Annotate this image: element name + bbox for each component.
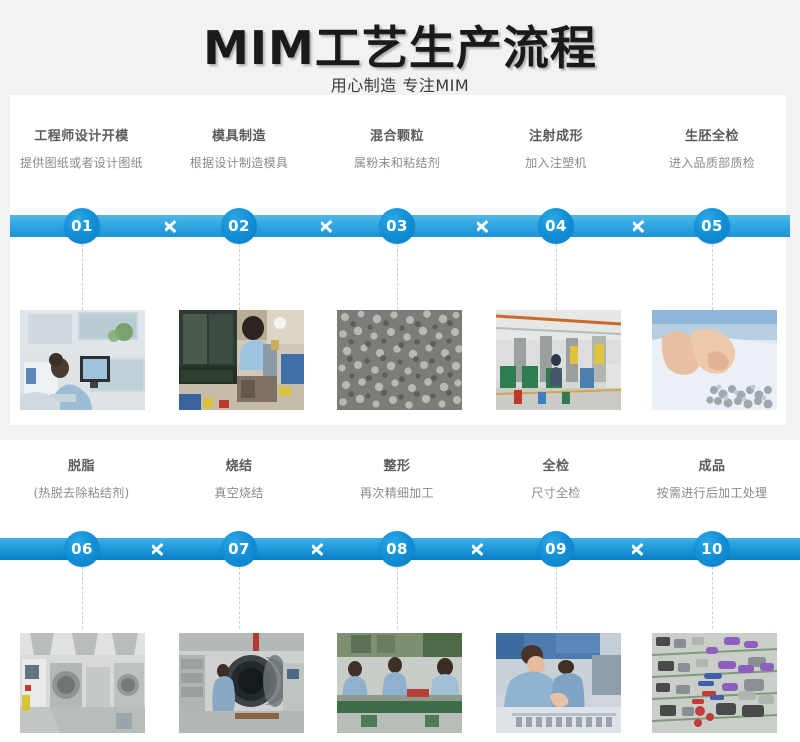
step-title: 烧结 — [159, 455, 319, 474]
connector-line — [239, 567, 240, 629]
step-desc: 加入注塑机 — [476, 154, 636, 171]
step-desc: 进入品质部质检 — [632, 154, 792, 171]
connector-line — [712, 244, 713, 310]
step-desc: 真空烧结 — [159, 484, 319, 501]
hands-inspecting-green-parts-image — [652, 310, 777, 410]
step-title: 模具制造 — [159, 125, 319, 144]
step-label-07: 烧结 真空烧结 — [159, 455, 319, 501]
injection-molding-line-image — [496, 310, 621, 410]
step-node-04[interactable]: 04 — [538, 208, 574, 244]
step-node-06[interactable]: 06 — [64, 531, 100, 567]
step-photo-02 — [179, 310, 304, 410]
connector-line — [556, 567, 557, 629]
chevron-right-icon — [633, 214, 649, 238]
step-label-06: 脱脂 (热脱去除粘结剂) — [0, 455, 163, 501]
step-label-08: 整形 再次精细加工 — [317, 455, 477, 501]
step-node-07[interactable]: 07 — [221, 531, 257, 567]
step-desc: (热脱去除粘结剂) — [0, 484, 163, 501]
finished-mim-products-tray-image — [652, 633, 777, 733]
step-title: 工程师设计开模 — [0, 125, 163, 144]
step-title: 脱脂 — [0, 455, 163, 474]
connector-line — [556, 244, 557, 310]
page-title: MIM工艺生产流程 — [0, 12, 800, 78]
step-label-10: 成品 按需进行后加工处理 — [632, 455, 792, 501]
step-photo-08 — [337, 633, 462, 733]
chevron-right-icon — [321, 214, 337, 238]
sizing-workbench-operators-image — [337, 633, 462, 733]
step-desc: 属粉末和粘结剂 — [317, 154, 477, 171]
step-photo-04 — [496, 310, 621, 410]
step-desc: 提供图纸或者设计图纸 — [0, 154, 163, 171]
debinding-furnace-room-image — [20, 633, 145, 733]
header: MIM工艺生产流程 用心制造 专注MIM — [0, 0, 800, 95]
step-photo-10 — [652, 633, 777, 733]
step-title: 注射成形 — [476, 125, 636, 144]
step-title: 成品 — [632, 455, 792, 474]
chevron-right-icon — [152, 537, 168, 561]
step-photo-06 — [20, 633, 145, 733]
dimensional-inspection-worker-image — [496, 633, 621, 733]
step-title: 生胚全检 — [632, 125, 792, 144]
chevron-right-icon — [165, 214, 181, 238]
chevron-right-icon — [477, 214, 493, 238]
step-label-09: 全检 尺寸全检 — [476, 455, 636, 501]
step-node-08[interactable]: 08 — [379, 531, 415, 567]
step-node-05[interactable]: 05 — [694, 208, 730, 244]
step-label-02: 模具制造 根据设计制造模具 — [159, 125, 319, 171]
step-label-05: 生胚全检 进入品质部质检 — [632, 125, 792, 171]
page-subtitle: 用心制造 专注MIM — [0, 72, 800, 96]
engineer-cad-workstation-image — [20, 310, 145, 410]
step-node-02[interactable]: 02 — [221, 208, 257, 244]
step-title: 整形 — [317, 455, 477, 474]
step-node-03[interactable]: 03 — [379, 208, 415, 244]
step-label-04: 注射成形 加入注塑机 — [476, 125, 636, 171]
step-label-01: 工程师设计开模 提供图纸或者设计图纸 — [0, 125, 163, 171]
connector-line — [712, 567, 713, 629]
metal-feedstock-granules-image — [337, 310, 462, 410]
step-desc: 按需进行后加工处理 — [632, 484, 792, 501]
mim-process-infographic: MIM工艺生产流程 用心制造 专注MIM 工程师设计开模 提供图纸或者设计图纸 … — [0, 0, 800, 742]
step-photo-01 — [20, 310, 145, 410]
mold-machining-shop-image — [179, 310, 304, 410]
step-photo-07 — [179, 633, 304, 733]
step-node-09[interactable]: 09 — [538, 531, 574, 567]
chevron-right-icon — [472, 537, 488, 561]
step-photo-03 — [337, 310, 462, 410]
step-desc: 再次精细加工 — [317, 484, 477, 501]
connector-line — [397, 567, 398, 629]
step-desc: 根据设计制造模具 — [159, 154, 319, 171]
connector-line — [397, 244, 398, 310]
step-node-10[interactable]: 10 — [694, 531, 730, 567]
step-node-01[interactable]: 01 — [64, 208, 100, 244]
connector-line — [239, 244, 240, 310]
vacuum-sintering-furnace-image — [179, 633, 304, 733]
chevron-right-icon — [632, 537, 648, 561]
chevron-right-icon — [312, 537, 328, 561]
step-desc: 尺寸全检 — [476, 484, 636, 501]
step-photo-09 — [496, 633, 621, 733]
step-title: 混合颗粒 — [317, 125, 477, 144]
step-label-03: 混合颗粒 属粉末和粘结剂 — [317, 125, 477, 171]
step-photo-05 — [652, 310, 777, 410]
step-title: 全检 — [476, 455, 636, 474]
connector-line — [82, 244, 83, 310]
connector-line — [82, 567, 83, 629]
